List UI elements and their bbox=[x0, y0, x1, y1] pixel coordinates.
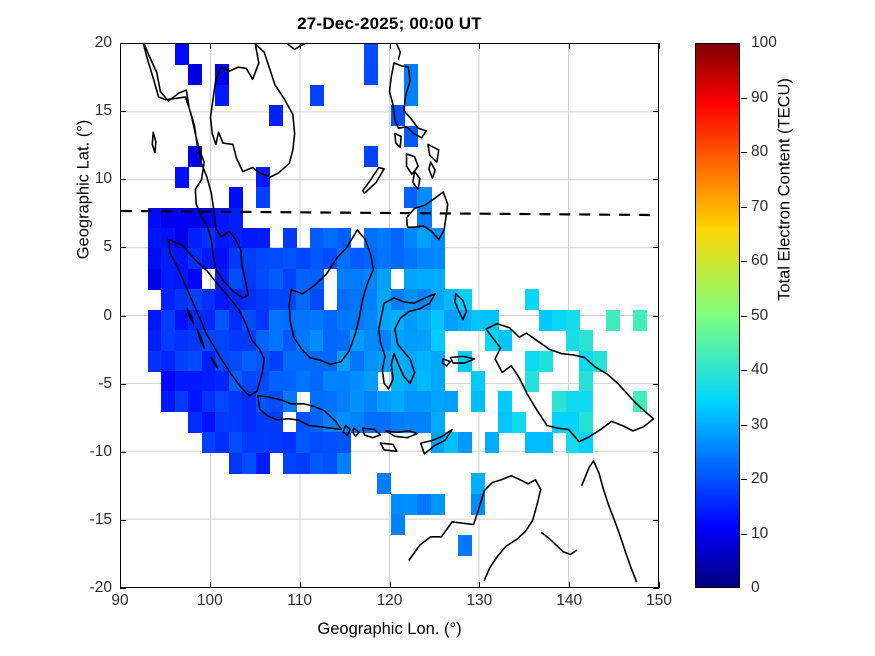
colorbar-tick-label: 80 bbox=[751, 143, 768, 161]
y-tick bbox=[120, 179, 126, 180]
magnetic-equator-line bbox=[121, 44, 658, 587]
colorbar-tick bbox=[741, 261, 747, 262]
colorbar-tick-label: 20 bbox=[751, 470, 768, 488]
y-tick bbox=[653, 588, 659, 589]
y-tick bbox=[120, 43, 126, 44]
y-tick bbox=[653, 179, 659, 180]
tec-map-figure: 27-Dec-2025; 00:00 UT 901001101201301401… bbox=[0, 0, 875, 656]
x-tick bbox=[479, 43, 480, 49]
y-tick-label: -10 bbox=[90, 443, 112, 461]
colorbar-tick bbox=[741, 479, 747, 480]
colorbar bbox=[695, 43, 740, 588]
y-tick-label: -5 bbox=[98, 375, 112, 393]
y-tick bbox=[653, 111, 659, 112]
y-tick bbox=[653, 43, 659, 44]
x-tick-label: 140 bbox=[556, 592, 582, 610]
colorbar-tick bbox=[741, 98, 747, 99]
colorbar-tick bbox=[741, 534, 747, 535]
y-tick bbox=[120, 247, 126, 248]
colorbar-tick bbox=[741, 425, 747, 426]
y-tick bbox=[120, 452, 126, 453]
y-tick-label: 15 bbox=[95, 102, 112, 120]
x-tick bbox=[390, 582, 391, 588]
colorbar-tick bbox=[741, 370, 747, 371]
colorbar-tick-label: 10 bbox=[751, 525, 768, 543]
x-tick bbox=[479, 582, 480, 588]
x-tick-label: 120 bbox=[377, 592, 403, 610]
magnetic-equator-dash bbox=[121, 211, 658, 215]
x-tick bbox=[659, 43, 660, 49]
y-tick-label: 0 bbox=[103, 307, 112, 325]
x-tick bbox=[300, 582, 301, 588]
colorbar-tick bbox=[741, 207, 747, 208]
y-tick bbox=[120, 384, 126, 385]
colorbar-tick-label: 0 bbox=[751, 579, 760, 597]
y-tick-label: 20 bbox=[95, 34, 112, 52]
y-tick-label: 5 bbox=[103, 238, 112, 256]
x-tick bbox=[390, 43, 391, 49]
colorbar-tick-label: 50 bbox=[751, 307, 768, 325]
y-tick bbox=[653, 520, 659, 521]
y-tick bbox=[653, 247, 659, 248]
colorbar-tick-label: 90 bbox=[751, 89, 768, 107]
colorbar-tick-label: 70 bbox=[751, 198, 768, 216]
x-tick-label: 130 bbox=[466, 592, 492, 610]
colorbar-tick-label: 40 bbox=[751, 361, 768, 379]
map-axes bbox=[120, 43, 659, 588]
colorbar-label: Total Electron Content (TECU) bbox=[776, 30, 795, 350]
y-axis-label: Geographic Lat. (°) bbox=[75, 30, 94, 350]
x-tick bbox=[210, 582, 211, 588]
x-tick bbox=[569, 43, 570, 49]
colorbar-tick-label: 60 bbox=[751, 252, 768, 270]
colorbar-tick-label: 100 bbox=[751, 34, 777, 52]
x-tick-label: 90 bbox=[111, 592, 128, 610]
colorbar-tick bbox=[741, 316, 747, 317]
x-tick bbox=[569, 582, 570, 588]
y-tick bbox=[653, 316, 659, 317]
y-tick bbox=[120, 316, 126, 317]
y-tick bbox=[653, 452, 659, 453]
y-tick bbox=[120, 520, 126, 521]
y-tick bbox=[120, 111, 126, 112]
figure-title: 27-Dec-2025; 00:00 UT bbox=[120, 14, 659, 34]
x-tick-label: 100 bbox=[197, 592, 223, 610]
y-tick bbox=[120, 588, 126, 589]
x-axis-label: Geographic Lon. (°) bbox=[120, 620, 659, 639]
colorbar-tick-label: 30 bbox=[751, 416, 768, 434]
x-tick-label: 150 bbox=[646, 592, 672, 610]
x-tick bbox=[659, 582, 660, 588]
x-tick bbox=[300, 43, 301, 49]
y-tick bbox=[653, 384, 659, 385]
y-tick-label: -15 bbox=[90, 511, 112, 529]
y-tick-label: 10 bbox=[95, 170, 112, 188]
x-tick-label: 110 bbox=[287, 592, 312, 610]
x-tick bbox=[210, 43, 211, 49]
y-tick-label: -20 bbox=[90, 579, 112, 597]
colorbar-tick bbox=[741, 152, 747, 153]
